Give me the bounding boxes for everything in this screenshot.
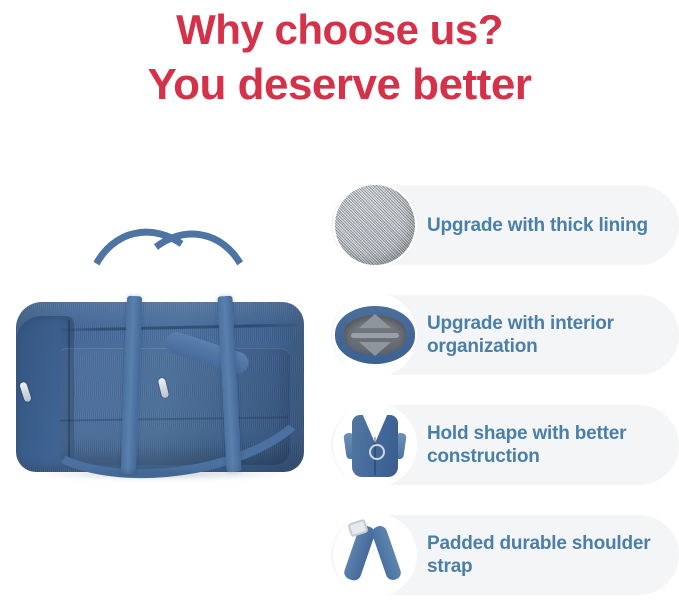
mesh-lining-circle-icon [333, 183, 417, 267]
feature-item-construction[interactable]: Hold shape with better construction [331, 405, 679, 485]
open-bag-top-view [335, 306, 415, 364]
feature-item-strap[interactable]: Padded durable shoulder strap [331, 515, 679, 595]
feature-label: Upgrade with interior organization [427, 312, 659, 358]
open-bag-fold-bottom [359, 342, 391, 356]
bag-drop-shadow [30, 468, 292, 480]
product-image [0, 205, 330, 535]
duffel-bag-illustration [8, 290, 308, 480]
feature-item-organization[interactable]: Upgrade with interior organization [331, 295, 679, 375]
open-bag-interior-icon [333, 293, 417, 377]
folded-shoulder-strap-icon [333, 513, 417, 597]
headline-line-1: Why choose us? [0, 2, 679, 57]
mesh-texture-swatch [335, 185, 415, 265]
feature-item-lining[interactable]: Upgrade with thick lining [331, 185, 679, 265]
strap-arm-right [370, 524, 402, 582]
open-bag-divider [351, 333, 399, 338]
headline-line-2: You deserve better [0, 57, 679, 112]
feature-label: Hold shape with better construction [427, 422, 659, 468]
headline-block: Why choose us? You deserve better [0, 0, 679, 112]
feature-label: Upgrade with thick lining [427, 214, 659, 237]
upright-bag-ring-icon [369, 444, 385, 460]
folded-strap-shape [339, 519, 411, 591]
upright-bag-front-view [344, 411, 406, 479]
feature-list: Upgrade with thick lining Upgrade with i… [331, 185, 679, 595]
feature-label: Padded durable shoulder strap [427, 532, 659, 578]
upright-bag-shape-icon [333, 403, 417, 487]
open-bag-fold-top [359, 314, 391, 328]
